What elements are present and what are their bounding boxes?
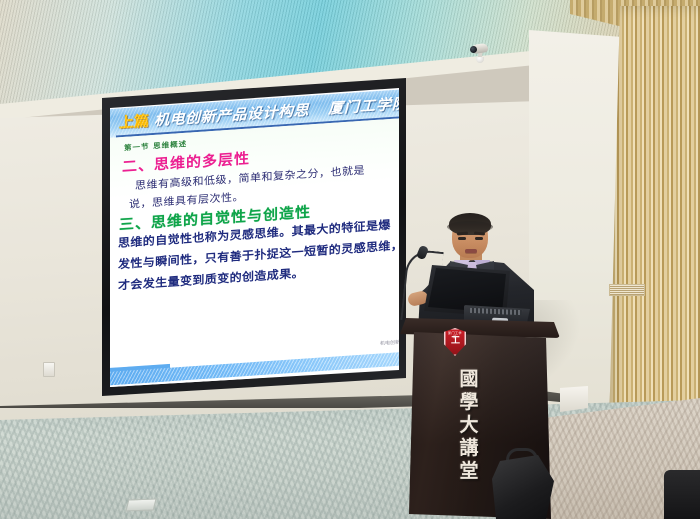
podium-char-4: 講 — [459, 439, 478, 458]
school-emblem-icon: 厦门工学院 工 — [444, 328, 466, 356]
light-switch[interactable] — [43, 362, 55, 377]
podium-venue-sign: 國 學 大 講 堂 — [449, 370, 489, 481]
lecture-hall-photo: 上篇 机电创新产品设计构思 厦门工学院 第一节 思维概述 二、思维的多层性 思维… — [0, 0, 700, 519]
screen-surface: 上篇 机电创新产品设计构思 厦门工学院 第一节 思维概述 二、思维的多层性 思维… — [88, 78, 408, 398]
floor-power-outlet — [125, 499, 156, 512]
podium-char-2: 學 — [459, 393, 478, 412]
security-camera-icon — [470, 43, 488, 58]
emblem-mark: 工 — [451, 336, 459, 346]
podium-char-5: 堂 — [459, 462, 478, 481]
slide-section-label: 第一节 思维概述 — [124, 138, 187, 153]
podium-char-1: 國 — [459, 370, 478, 389]
presentation-slide: 上篇 机电创新产品设计构思 厦门工学院 第一节 思维概述 二、思维的多层性 思维… — [110, 88, 408, 388]
speaker-eye-right — [475, 237, 483, 240]
emblem-caption: 厦门工学院 — [447, 331, 463, 335]
slide-institution: 厦门工学院 — [328, 93, 408, 119]
slide-body: 第一节 思维概述 二、思维的多层性 思维有高级和低级，简单和复杂之分，也就是 说… — [110, 117, 408, 388]
speaker-mouth — [465, 249, 477, 253]
wall-vent — [609, 284, 645, 296]
slide-part-label: 上篇 — [119, 110, 149, 132]
camera-lens — [470, 46, 477, 53]
chair-edge — [664, 470, 700, 519]
speaker-hair — [449, 213, 491, 235]
projection-screen: 上篇 机电创新产品设计构思 厦门工学院 第一节 思维概述 二、思维的多层性 思维… — [88, 78, 408, 398]
paper-on-floor — [560, 386, 588, 412]
podium-char-3: 大 — [459, 416, 478, 435]
speaker-eye-left — [458, 237, 466, 240]
